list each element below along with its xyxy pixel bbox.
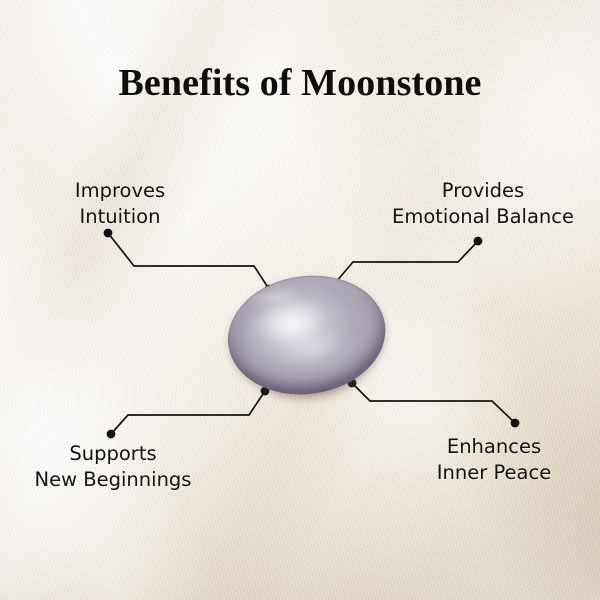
benefit-label-enhances-inner-peace: Enhances Inner Peace [398, 434, 590, 486]
benefit-label-improves-intuition: Improves Intuition [30, 178, 210, 230]
benefit-line-2: Intuition [30, 204, 210, 230]
connector-dot-provides-emotional-balance-outer [474, 237, 483, 246]
benefit-line-2: New Beginnings [4, 467, 222, 493]
connector-enhances-inner-peace [352, 383, 515, 423]
connector-dot-improves-intuition-outer [104, 229, 113, 238]
benefit-line-2: Inner Peace [398, 460, 590, 486]
benefit-label-supports-new-beginnings: Supports New Beginnings [4, 441, 222, 493]
moonstone-cabochon [220, 266, 393, 409]
benefit-label-provides-emotional-balance: Provides Emotional Balance [372, 178, 594, 230]
connector-dot-supports-new-beginnings-outer [107, 430, 116, 439]
benefit-line-1: Improves [30, 178, 210, 204]
benefit-line-2: Emotional Balance [372, 204, 594, 230]
connector-dot-enhances-inner-peace-outer [511, 419, 520, 428]
infographic-canvas: Benefits of Moonstone Improves Intuition… [0, 0, 600, 600]
connector-improves-intuition [108, 233, 269, 289]
benefit-line-1: Provides [372, 178, 594, 204]
benefit-line-1: Enhances [398, 434, 590, 460]
benefit-line-1: Supports [4, 441, 222, 467]
